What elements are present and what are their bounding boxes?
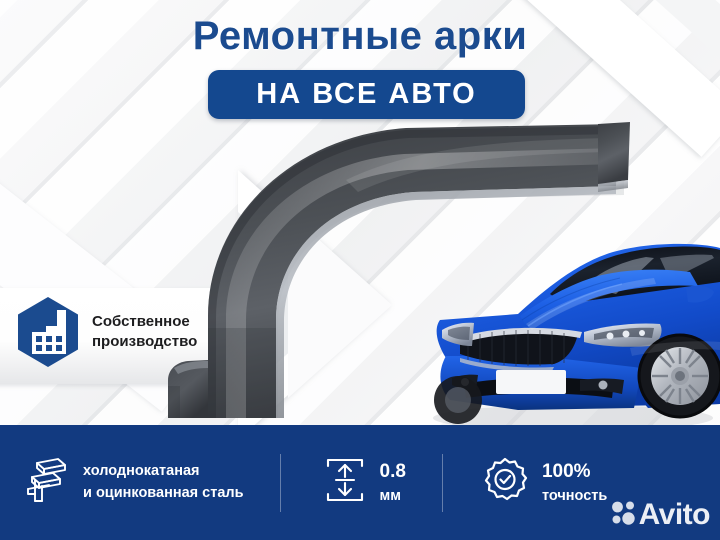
feature-steel-line2: и оцинкованная сталь [83, 483, 244, 504]
steel-sheets-icon [24, 456, 70, 509]
feature-thickness: 0.8 мм [323, 456, 406, 509]
cta-button-label: НА ВСЕ АВТО [256, 78, 476, 111]
feature-steel-line1: холоднокатаная [83, 461, 244, 482]
feature-thickness-text: 0.8 мм [380, 458, 406, 507]
avito-watermark: Avito [611, 498, 710, 532]
banner-divider-2 [442, 454, 443, 512]
own-production-badge: Собственное производство [16, 294, 254, 370]
feature-accuracy-value: 100% [542, 458, 607, 486]
avito-wordmark: Avito [639, 498, 710, 532]
page-title: Ремонтные арки [0, 14, 720, 59]
own-production-line2: производство [92, 332, 197, 352]
car-photo [398, 228, 720, 428]
own-production-label: Собственное производство [92, 312, 197, 352]
feature-accuracy-text: 100% точность [542, 458, 607, 507]
factory-icon [16, 296, 80, 368]
feature-accuracy-label: точность [542, 486, 607, 507]
avito-dots-icon [611, 500, 637, 531]
feature-accuracy: 100% точность [481, 456, 607, 509]
advertisement-banner: Ремонтные арки НА ВСЕ АВТО [0, 0, 720, 540]
feature-thickness-value: 0.8 [380, 458, 406, 486]
gear-check-icon [481, 456, 529, 509]
cta-button[interactable]: НА ВСЕ АВТО [208, 70, 525, 119]
own-production-line1: Собственное [92, 312, 197, 332]
banner-divider-1 [280, 454, 281, 512]
feature-steel: холоднокатаная и оцинкованная сталь [24, 456, 244, 509]
feature-steel-text: холоднокатаная и оцинкованная сталь [83, 461, 244, 503]
thickness-gauge-icon [323, 456, 367, 509]
feature-thickness-unit: мм [380, 486, 406, 507]
